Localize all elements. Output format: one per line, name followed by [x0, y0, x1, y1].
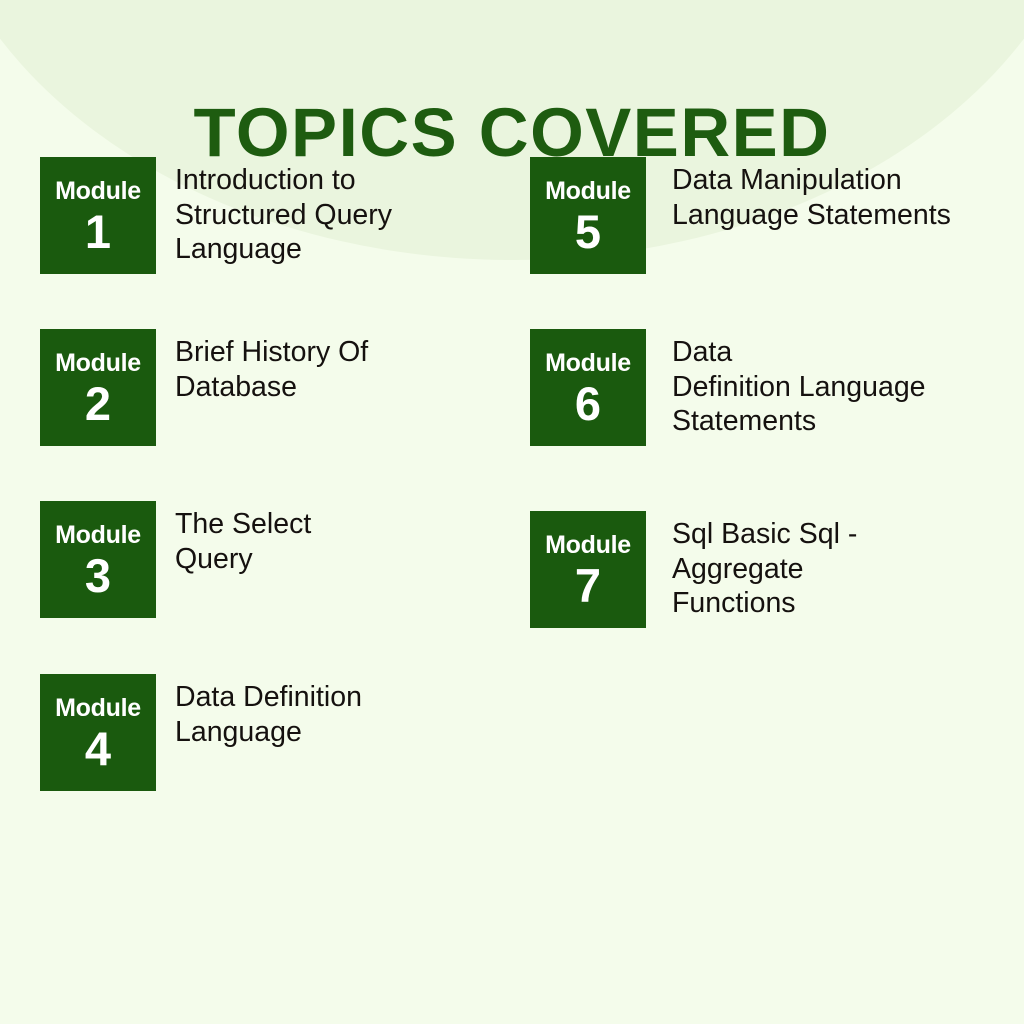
module-badge-1[interactable]: Module 1: [40, 157, 156, 274]
module-item-2[interactable]: Module 2 Brief History Of Database: [40, 329, 368, 446]
module-item-3[interactable]: Module 3 The Select Query: [40, 501, 311, 618]
module-title-5: Data Manipulation Language Statements: [672, 163, 951, 232]
module-title-6: Data Definition Language Statements: [672, 335, 926, 439]
module-badge-label-3: Module: [55, 523, 141, 548]
module-title-7: Sql Basic Sql - Aggregate Functions: [672, 517, 857, 621]
module-badge-4[interactable]: Module 4: [40, 674, 156, 791]
module-badge-label-4: Module: [55, 696, 141, 721]
module-badge-label-2: Module: [55, 351, 141, 376]
module-badge-number-7: 7: [575, 561, 601, 610]
module-badge-number-6: 6: [575, 379, 601, 428]
module-badge-5[interactable]: Module 5: [530, 157, 646, 274]
module-badge-6[interactable]: Module 6: [530, 329, 646, 446]
module-item-7[interactable]: Module 7 Sql Basic Sql - Aggregate Funct…: [530, 511, 857, 628]
module-badge-number-2: 2: [85, 379, 111, 428]
module-title-1: Introduction to Structured Query Languag…: [175, 163, 392, 267]
module-badge-number-5: 5: [575, 207, 601, 256]
module-grid: Module 1 Introduction to Structured Quer…: [0, 0, 1024, 1024]
module-badge-label-1: Module: [55, 179, 141, 204]
module-badge-number-4: 4: [85, 724, 111, 773]
module-badge-number-3: 3: [85, 551, 111, 600]
module-badge-label-5: Module: [545, 179, 631, 204]
poster-content: TOPICS COVERED Module 1 Introduction to …: [0, 0, 1024, 1024]
module-badge-label-7: Module: [545, 533, 631, 558]
module-badge-7[interactable]: Module 7: [530, 511, 646, 628]
module-title-3: The Select Query: [175, 507, 311, 576]
module-badge-label-6: Module: [545, 351, 631, 376]
module-title-2: Brief History Of Database: [175, 335, 368, 404]
module-badge-3[interactable]: Module 3: [40, 501, 156, 618]
module-title-4: Data Definition Language: [175, 680, 362, 749]
module-badge-number-1: 1: [85, 207, 111, 256]
module-item-5[interactable]: Module 5 Data Manipulation Language Stat…: [530, 157, 951, 274]
topics-covered-poster: TOPICS COVERED Module 1 Introduction to …: [0, 0, 1024, 1024]
module-item-6[interactable]: Module 6 Data Definition Language Statem…: [530, 329, 926, 446]
module-badge-2[interactable]: Module 2: [40, 329, 156, 446]
module-item-1[interactable]: Module 1 Introduction to Structured Quer…: [40, 157, 392, 274]
module-item-4[interactable]: Module 4 Data Definition Language: [40, 674, 362, 791]
